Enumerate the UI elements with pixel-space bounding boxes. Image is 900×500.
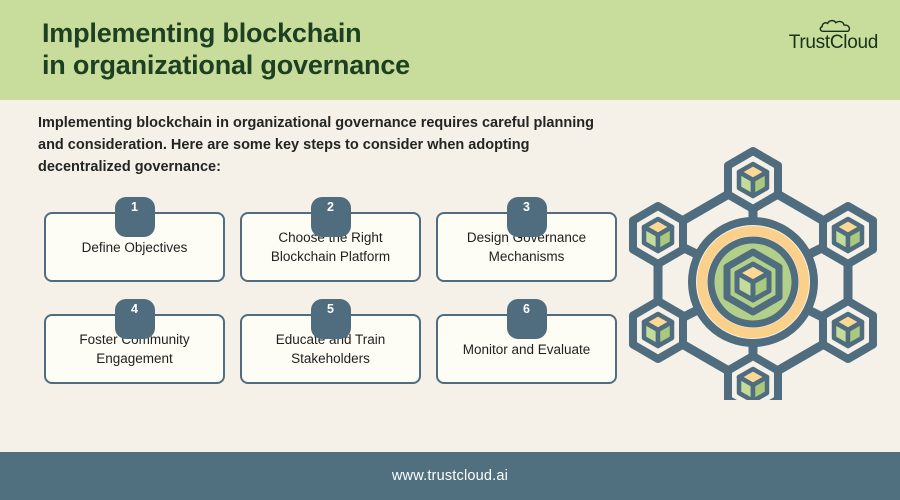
network-node-top-left xyxy=(633,206,683,264)
step-number-badge: 2 xyxy=(311,197,351,237)
step-card-4[interactable]: Foster Community Engagement 4 xyxy=(44,314,225,384)
network-node-bottom xyxy=(728,356,778,400)
step-card-3[interactable]: Design Governance Mechanisms 3 xyxy=(436,212,617,282)
network-node-bottom-left xyxy=(633,301,683,359)
step-card-2[interactable]: Choose the Right Blockchain Platform 2 xyxy=(240,212,421,282)
page-title: Implementing blockchain in organizationa… xyxy=(42,17,722,81)
step-card-5[interactable]: Educate and Train Stakeholders 5 xyxy=(240,314,421,384)
central-blockchain-emblem xyxy=(692,221,814,343)
step-number-badge: 1 xyxy=(115,197,155,237)
footer-url[interactable]: www.trustcloud.ai xyxy=(392,468,508,484)
step-card-label: Monitor and Evaluate xyxy=(463,340,591,359)
blockchain-network-hexagon-icon xyxy=(627,140,879,400)
intro-paragraph: Implementing blockchain in organizationa… xyxy=(38,112,608,178)
footer-band: www.trustcloud.ai xyxy=(0,452,900,500)
steps-grid: Define Objectives 1 Choose the Right Blo… xyxy=(44,212,618,416)
slide-canvas: Implementing blockchain in organizationa… xyxy=(0,0,900,500)
step-number: 3 xyxy=(523,200,530,214)
step-number: 4 xyxy=(131,302,138,316)
step-number: 2 xyxy=(327,200,334,214)
steps-row-2: Foster Community Engagement 4 Educate an… xyxy=(44,314,618,384)
header-band: Implementing blockchain in organizationa… xyxy=(0,0,900,100)
network-node-top-right xyxy=(823,206,873,264)
step-number-badge: 3 xyxy=(507,197,547,237)
step-card-label: Define Objectives xyxy=(82,238,188,257)
trustcloud-logo: TrustCloud xyxy=(758,18,878,64)
network-node-bottom-right xyxy=(823,301,873,359)
step-number-badge: 4 xyxy=(115,299,155,339)
blockchain-network-illustration xyxy=(627,140,879,400)
network-node-top xyxy=(728,151,778,209)
step-number-badge: 5 xyxy=(311,299,351,339)
steps-row-1: Define Objectives 1 Choose the Right Blo… xyxy=(44,212,618,282)
step-number: 5 xyxy=(327,302,334,316)
logo-text: TrustCloud xyxy=(789,32,878,54)
step-number: 1 xyxy=(131,200,138,214)
step-card-6[interactable]: Monitor and Evaluate 6 xyxy=(436,314,617,384)
step-card-1[interactable]: Define Objectives 1 xyxy=(44,212,225,282)
step-number-badge: 6 xyxy=(507,299,547,339)
step-number: 6 xyxy=(523,302,530,316)
